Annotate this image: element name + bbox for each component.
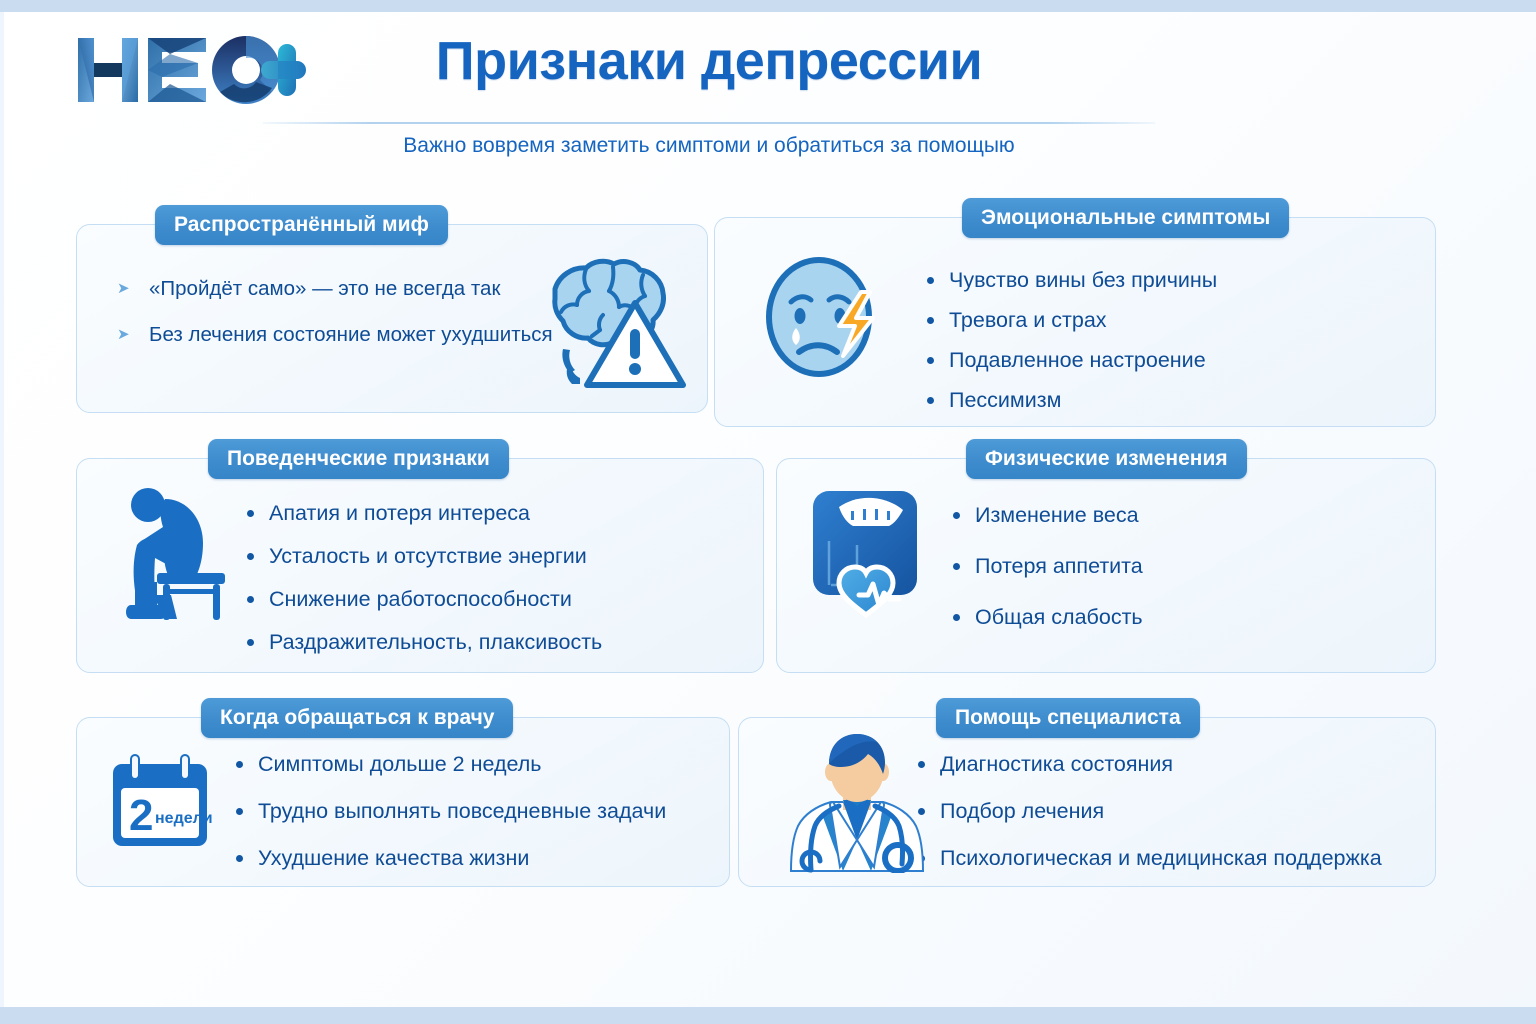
list-item: Изменение веса <box>949 503 1143 528</box>
list-item: ➤«Пройдёт само» — это не всегда так <box>113 277 553 301</box>
list-item: Подавленное настроение <box>923 348 1217 373</box>
dot-bullet-icon <box>953 614 960 621</box>
list-item: Диагностика состояния <box>914 752 1382 777</box>
list-item-label: Симптомы дольше 2 недель <box>258 752 542 776</box>
list-item: Подбор лечения <box>914 799 1382 824</box>
list-item-label: Усталость и отсутствие энергии <box>269 544 587 568</box>
list-item: Потеря аппетита <box>949 554 1143 579</box>
calendar-unit: недели <box>155 810 213 827</box>
list-item-label: Общая слабость <box>975 605 1143 629</box>
list-item-label: Снижение работоспособности <box>269 587 572 611</box>
arrow-bullet-icon: ➤ <box>117 328 130 342</box>
list-item: Чувство вины без причины <box>923 268 1217 293</box>
list-item-label: «Пройдёт само» — это не всегда так <box>149 277 500 300</box>
list-item: ➤Без лечения состояние может ухудшиться <box>113 323 553 347</box>
list-item: Раздражительность, плаксивость <box>243 630 602 655</box>
card-physical-changes: Физические изменения Изменение веса Поте… <box>776 458 1436 673</box>
dot-bullet-icon <box>236 808 243 815</box>
weight-scale-heartbeat-icon <box>809 483 939 623</box>
arrow-bullet-icon: ➤ <box>117 282 130 296</box>
dot-bullet-icon <box>927 317 934 324</box>
list-item: Апатия и потеря интереса <box>243 501 602 526</box>
list-item: Симптомы дольше 2 недель <box>232 752 666 777</box>
bullet-list-when-to-see-doctor: Симптомы дольше 2 недель Трудно выполнят… <box>232 752 666 893</box>
calendar-two-weeks-icon: 2 недели <box>99 750 221 850</box>
sad-face-lightning-icon <box>763 250 888 385</box>
card-emotional-symptoms: Эмоциональные симптомы Чувство вины без … <box>714 217 1436 427</box>
top-decorative-band <box>0 0 1536 12</box>
list-item-label: Потеря аппетита <box>975 554 1143 578</box>
bottom-decorative-band <box>0 1007 1536 1024</box>
list-item-label: Раздражительность, плаксивость <box>269 630 602 654</box>
bullet-list-physical-changes: Изменение веса Потеря аппетита Общая сла… <box>949 503 1143 656</box>
list-item-label: Пессимизм <box>949 388 1061 412</box>
bullet-list-specialist-help: Диагностика состояния Подбор лечения Пси… <box>914 752 1382 893</box>
list-item-label: Диагностика состояния <box>940 752 1173 776</box>
list-item-label: Подбор лечения <box>940 799 1104 823</box>
dot-bullet-icon <box>953 512 960 519</box>
brain-warning-icon <box>517 251 687 391</box>
header: Признаки депрессии Важно вовремя заметит… <box>0 12 1536 177</box>
list-item: Психологическая и медицинская поддержка <box>914 846 1382 871</box>
card-body-specialist-help: Диагностика состояния Подбор лечения Пси… <box>739 718 1435 886</box>
dot-bullet-icon <box>236 855 243 862</box>
list-item-label: Тревога и страх <box>949 308 1107 332</box>
card-specialist-help: Помощь специалиста Диагностика состояния… <box>738 717 1436 887</box>
dot-bullet-icon <box>953 563 960 570</box>
card-body-common-myth: ➤«Пройдёт само» — это не всегда так ➤Без… <box>77 225 707 412</box>
list-item-label: Изменение веса <box>975 503 1139 527</box>
list-item: Ухудшение качества жизни <box>232 846 666 871</box>
dot-bullet-icon <box>927 357 934 364</box>
list-item: Усталость и отсутствие энергии <box>243 544 602 569</box>
card-body-physical-changes: Изменение веса Потеря аппетита Общая сла… <box>777 459 1435 672</box>
dot-bullet-icon <box>247 639 254 646</box>
dot-bullet-icon <box>236 761 243 768</box>
card-body-emotional-symptoms: Чувство вины без причины Тревога и страх… <box>715 218 1435 426</box>
title-divider <box>263 122 1155 124</box>
bullet-list-emotional-symptoms: Чувство вины без причины Тревога и страх… <box>923 268 1217 428</box>
dot-bullet-icon <box>927 277 934 284</box>
page-title: Признаки депрессии <box>263 34 1155 88</box>
list-item-label: Подавленное настроение <box>949 348 1206 372</box>
list-item: Пессимизм <box>923 388 1217 413</box>
card-when-to-see-doctor: Когда обращаться к врачу Симптомы дольше… <box>76 717 730 887</box>
list-item-label: Апатия и потеря интереса <box>269 501 530 525</box>
calendar-number: 2 <box>129 791 153 840</box>
list-item: Снижение работоспособности <box>243 587 602 612</box>
list-item: Трудно выполнять повседневные задачи <box>232 799 666 824</box>
list-item-label: Без лечения состояние может ухудшиться <box>149 323 553 346</box>
page-subtitle: Важно вовремя заметить симптоми и обрати… <box>263 134 1155 158</box>
bullet-list-behavioral-signs: Апатия и потеря интереса Усталость и отс… <box>243 501 602 673</box>
list-item-label: Психологическая и медицинская поддержка <box>940 846 1382 870</box>
list-item-label: Ухудшение качества жизни <box>258 846 529 870</box>
list-item-label: Чувство вины без причины <box>949 268 1217 292</box>
dot-bullet-icon <box>927 397 934 404</box>
dot-bullet-icon <box>247 596 254 603</box>
infographic-page: Признаки депрессии Важно вовремя заметит… <box>0 0 1536 1024</box>
dot-bullet-icon <box>247 553 254 560</box>
card-common-myth: Распространённый миф ➤«Пройдёт само» — э… <box>76 224 708 413</box>
doctor-stethoscope-icon <box>787 728 927 873</box>
card-body-when-to-see-doctor: Симптомы дольше 2 недель Трудно выполнят… <box>77 718 729 886</box>
card-behavioral-signs: Поведенческие признаки Апатия и потеря и… <box>76 458 764 673</box>
list-item-label: Трудно выполнять повседневные задачи <box>258 799 666 823</box>
bullet-list-common-myth: ➤«Пройдёт само» — это не всегда так ➤Без… <box>113 277 553 369</box>
sitting-slumped-person-icon <box>113 477 233 622</box>
list-item: Общая слабость <box>949 605 1143 630</box>
card-body-behavioral-signs: Апатия и потеря интереса Усталость и отс… <box>77 459 763 672</box>
dot-bullet-icon <box>247 510 254 517</box>
list-item: Тревога и страх <box>923 308 1217 333</box>
